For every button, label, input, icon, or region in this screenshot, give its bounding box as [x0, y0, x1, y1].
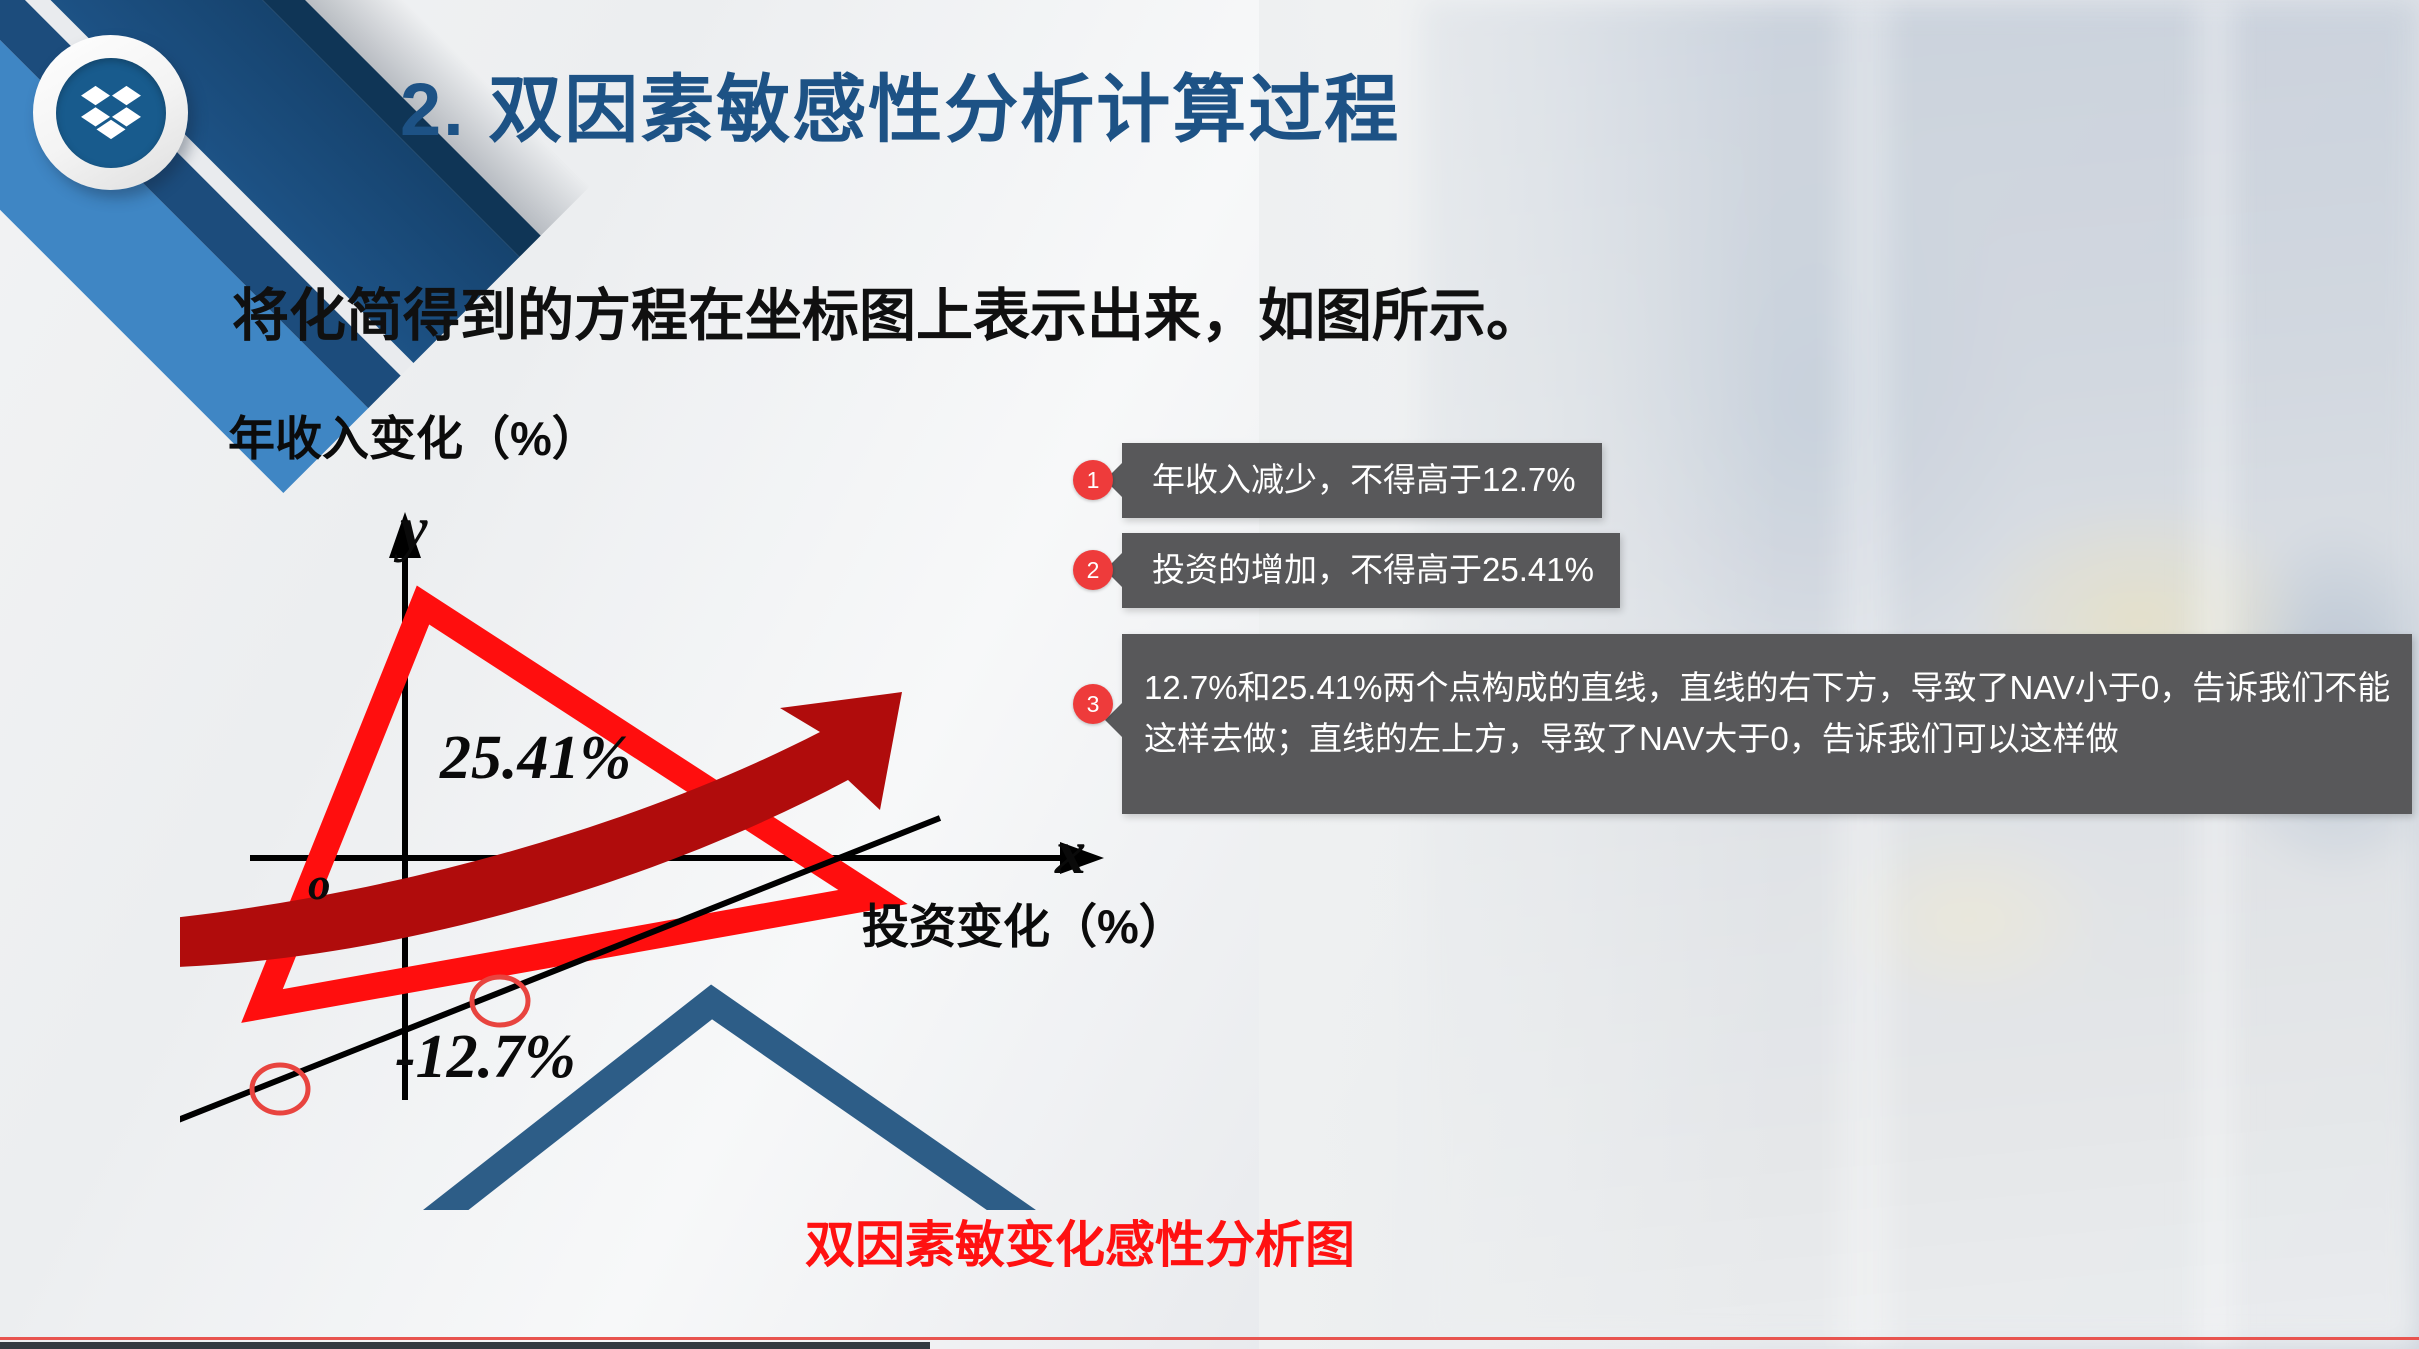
origin-label: o — [308, 858, 331, 910]
callout-2[interactable]: 2 投资的增加，不得高于25.41% — [1073, 533, 1620, 608]
callout-3[interactable]: 3 12.7%和25.41%两个点构成的直线，直线的右下方，导致了NAV小于0，… — [1073, 634, 2412, 814]
y-axis-letter: y — [400, 494, 428, 565]
callout-1[interactable]: 1 年收入减少，不得高于12.7% — [1073, 443, 1602, 518]
slide-subtitle: 将化简得到的方程在坐标图上表示出来，如图所示。 — [232, 270, 1543, 352]
x-axis-label: 投资变化（%） — [862, 888, 1186, 957]
y-axis-label: 年收入变化（%） — [228, 400, 599, 469]
callout-2-text: 投资的增加，不得高于25.41% — [1122, 533, 1620, 608]
blue-region-triangle — [260, 987, 1084, 1210]
callout-3-text: 12.7%和25.41%两个点构成的直线，直线的右下方，导致了NAV小于0，告诉… — [1122, 634, 2412, 814]
bottom-dark-bar — [0, 1342, 930, 1349]
logo-badge — [33, 35, 188, 190]
annotation-25-41: 25.41% — [440, 723, 631, 794]
x-axis-letter: x — [1055, 818, 1086, 889]
bottom-red-rule — [0, 1337, 2419, 1340]
figure-caption: 双因素敏变化感性分析图 — [805, 1205, 1355, 1277]
callout-1-text: 年收入减少，不得高于12.7% — [1122, 443, 1602, 518]
sensitivity-diagram — [180, 470, 1180, 1210]
diagram-svg — [180, 470, 1180, 1210]
slide-canvas: 2. 双因素敏感性分析计算过程 将化简得到的方程在坐标图上表示出来，如图所示。 … — [0, 0, 2419, 1349]
callout-3-badge: 3 — [1073, 684, 1113, 724]
dropbox-logo-icon — [80, 84, 142, 142]
logo-inner-circle — [56, 58, 166, 168]
page-title: 2. 双因素敏感性分析计算过程 — [400, 50, 1850, 157]
annotation-minus-12-7: -12.7% — [395, 1022, 576, 1093]
